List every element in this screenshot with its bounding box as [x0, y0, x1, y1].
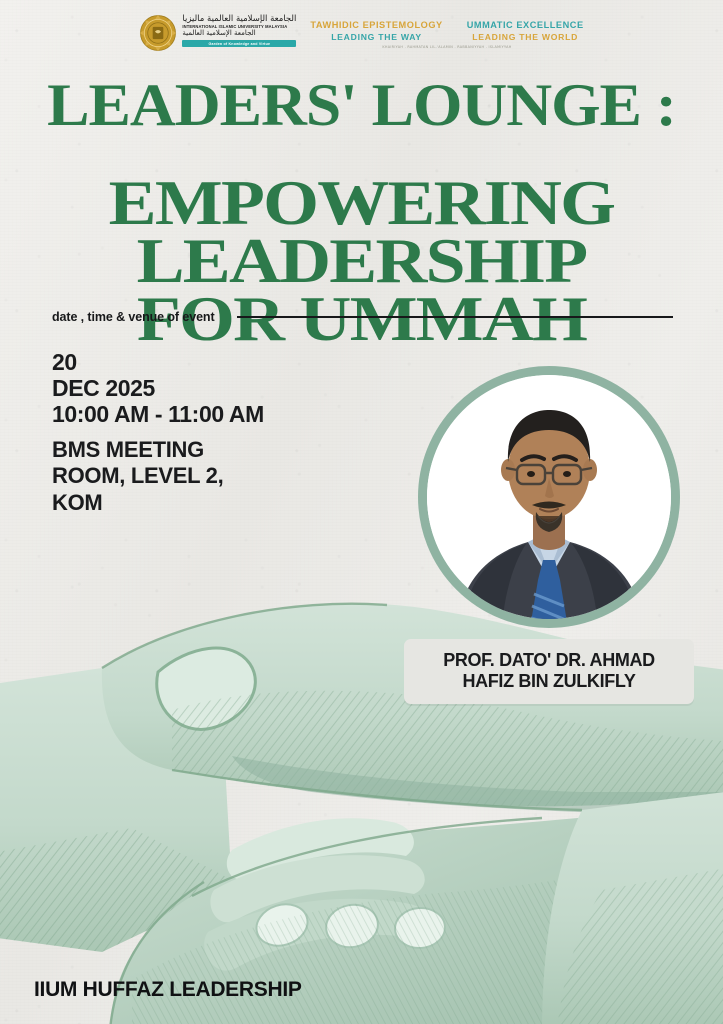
details-body: 20 DEC 2025 10:00 AM - 11:00 AM BMS MEET…: [52, 349, 264, 516]
iium-seal-icon: [139, 14, 177, 52]
details-label: date , time & venue of event: [52, 310, 215, 324]
event-month-year: DEC 2025: [52, 375, 264, 401]
tagline-1-line-2: LEADING THE WAY: [310, 32, 442, 43]
details-heading: date , time & venue of event: [52, 310, 673, 324]
tagline-fine-print: KHAIRIYAH . RAHMATAN LIL-'ALAMIN . RABBA…: [382, 45, 511, 49]
speaker-portrait: [418, 366, 680, 628]
logo-arabic-top: الجامعة الإسلامية العالمية ماليزيا: [182, 15, 296, 24]
tagline-2-line-1: UMMATIC EXCELLENCE: [467, 20, 584, 32]
tagline-2-line-2: LEADING THE WORLD: [467, 32, 584, 43]
poster-title: LEADERS' LOUNGE :: [0, 78, 723, 133]
iium-logo-wordmark: الجامعة الإسلامية العالمية ماليزيا INTER…: [182, 14, 296, 47]
event-time: 10:00 AM - 11:00 AM: [52, 401, 264, 427]
university-taglines: TAWHIDIC EPISTEMOLOGY LEADING THE WAY UM…: [310, 14, 583, 49]
speaker-name-line-1: PROF. DATO' DR. AHMAD: [414, 650, 684, 671]
event-venue-line-3: KOM: [52, 490, 264, 516]
iium-logo: الجامعة الإسلامية العالمية ماليزيا INTER…: [139, 14, 296, 52]
poster-subtitle-line-1: EMPOWERING LEADERSHIP: [0, 175, 723, 291]
tagline-ummatic: UMMATIC EXCELLENCE LEADING THE WORLD: [467, 20, 584, 42]
event-venue: BMS MEETING ROOM, LEVEL 2, KOM: [52, 437, 264, 516]
tagline-1-line-1: TAWHIDIC EPISTEMOLOGY: [310, 20, 442, 32]
speaker-name-banner: PROF. DATO' DR. AHMAD HAFIZ BIN ZULKIFLY: [404, 639, 694, 704]
event-poster: الجامعة الإسلامية العالمية ماليزيا INTER…: [0, 0, 723, 1024]
organizer-footer: IIUM HUFFAZ LEADERSHIP: [34, 978, 302, 1002]
poster-header: الجامعة الإسلامية العالمية ماليزيا INTER…: [0, 14, 723, 52]
event-venue-line-2: ROOM, LEVEL 2,: [52, 463, 264, 489]
speaker-name-line-2: HAFIZ BIN ZULKIFLY: [414, 671, 684, 692]
handshake-illustration: [0, 560, 723, 1024]
logo-arabic-bottom: الجامعة الإسلامية العالمية: [182, 30, 296, 37]
tagline-row: TAWHIDIC EPISTEMOLOGY LEADING THE WAY UM…: [310, 20, 583, 42]
event-venue-line-1: BMS MEETING: [52, 437, 264, 463]
tagline-tawhidic: TAWHIDIC EPISTEMOLOGY LEADING THE WAY: [310, 20, 442, 42]
logo-motto-banner: Garden of Knowledge and Virtue: [182, 40, 296, 47]
event-day: 20: [52, 349, 264, 375]
details-divider: [237, 316, 673, 318]
